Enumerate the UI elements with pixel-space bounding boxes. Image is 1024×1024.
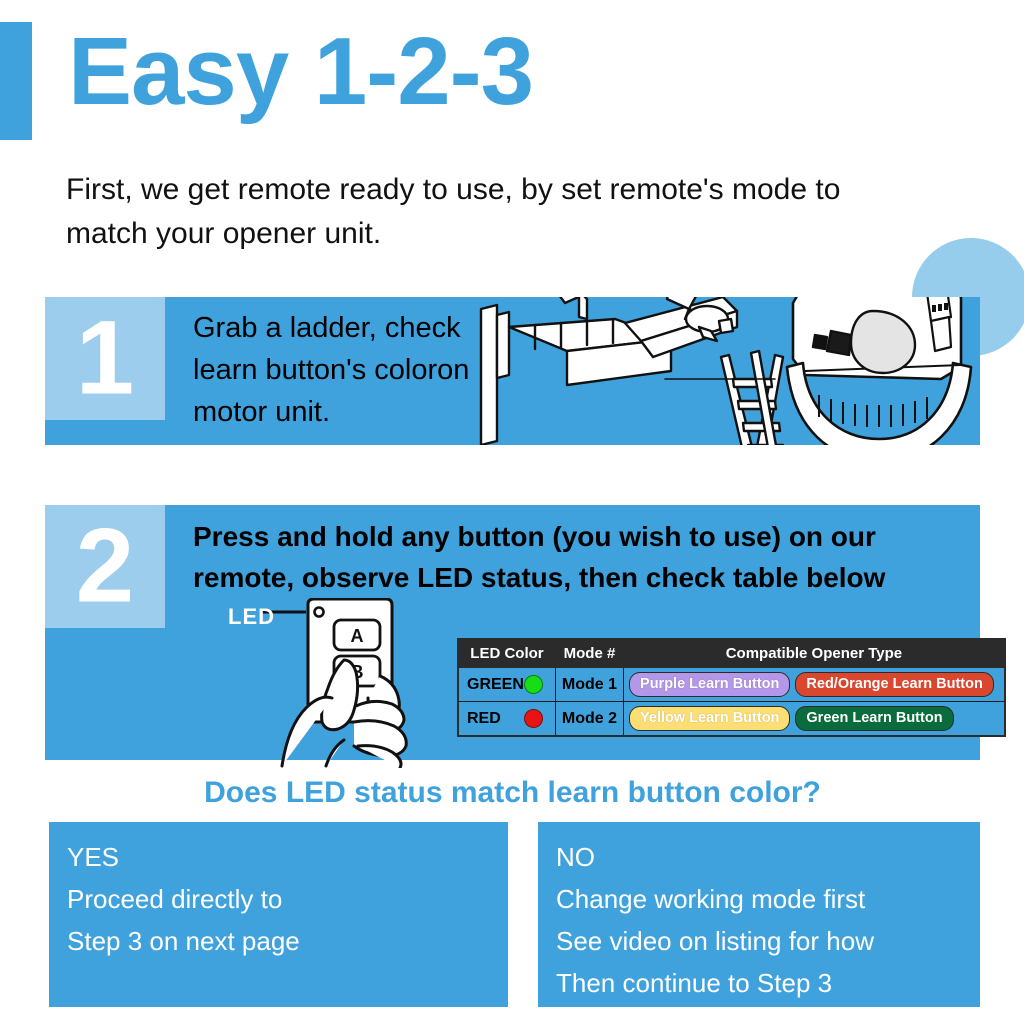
column-header-led-color: LED Color: [458, 639, 555, 668]
pill-green-learn-button: Green Learn Button: [795, 706, 953, 731]
answer-no-line-2: See video on listing for how: [556, 920, 962, 962]
step-1-panel: 1 Grab a ladder, check learn button's co…: [45, 297, 980, 445]
cell-led-color-green: GREEN: [458, 668, 555, 702]
led-color-label: GREEN: [467, 676, 524, 694]
answer-no-line-1: Change working mode first: [556, 878, 962, 920]
table-header-row: LED Color Mode # Compatible Opener Type: [458, 639, 1005, 668]
step-1-text: Grab a ladder, check learn button's colo…: [193, 307, 533, 433]
infographic-page: Easy 1-2-3 First, we get remote ready to…: [0, 0, 1024, 1024]
column-header-opener-type: Compatible Opener Type: [624, 639, 1005, 668]
table-row: RED Mode 2 Yellow Learn ButtonGreen Lear…: [458, 702, 1005, 737]
answer-no-line-3: Then continue to Step 3: [556, 962, 962, 1004]
pill-yellow-learn-button: Yellow Learn Button: [629, 706, 790, 731]
led-color-label: RED: [467, 710, 501, 728]
hand-holding-remote-illustration: A B: [258, 598, 473, 768]
led-callout-label: LED: [228, 604, 275, 630]
led-mode-table: LED Color Mode # Compatible Opener Type …: [457, 638, 1006, 737]
cell-opener-types-mode-1: Purple Learn ButtonRed/Orange Learn Butt…: [624, 668, 1005, 702]
answer-box-yes: YES Proceed directly to Step 3 on next p…: [49, 822, 508, 1007]
cell-opener-types-mode-2: Yellow Learn ButtonGreen Learn Button: [624, 702, 1005, 737]
garage-door-opener-ladder-illustration: [475, 297, 980, 445]
cell-led-color-red: RED: [458, 702, 555, 737]
answer-box-no: NO Change working mode first See video o…: [538, 822, 980, 1007]
cell-mode-2: Mode 2: [555, 702, 623, 737]
answer-yes-line-2: Step 3 on next page: [67, 920, 490, 962]
step-2-text: Press and hold any button (you wish to u…: [193, 517, 980, 598]
answer-yes-label: YES: [67, 836, 490, 878]
decision-question: Does LED status match learn button color…: [45, 776, 980, 810]
pill-red-orange-learn-button: Red/Orange Learn Button: [795, 672, 993, 697]
page-title: Easy 1-2-3: [68, 24, 533, 120]
remote-button-a-label: A: [351, 626, 364, 646]
column-header-mode: Mode #: [555, 639, 623, 668]
cell-mode-1: Mode 1: [555, 668, 623, 702]
answer-yes-line-1: Proceed directly to: [67, 878, 490, 920]
pill-purple-learn-button: Purple Learn Button: [629, 672, 790, 697]
step-1-number: 1: [45, 306, 165, 411]
step-2-number: 2: [45, 514, 165, 619]
page-subtitle: First, we get remote ready to use, by se…: [66, 168, 856, 255]
header-accent-bar: [0, 22, 32, 140]
answer-no-label: NO: [556, 836, 962, 878]
red-dot-icon: [524, 709, 543, 728]
green-dot-icon: [524, 675, 543, 694]
table-row: GREEN Mode 1 Purple Learn ButtonRed/Oran…: [458, 668, 1005, 702]
